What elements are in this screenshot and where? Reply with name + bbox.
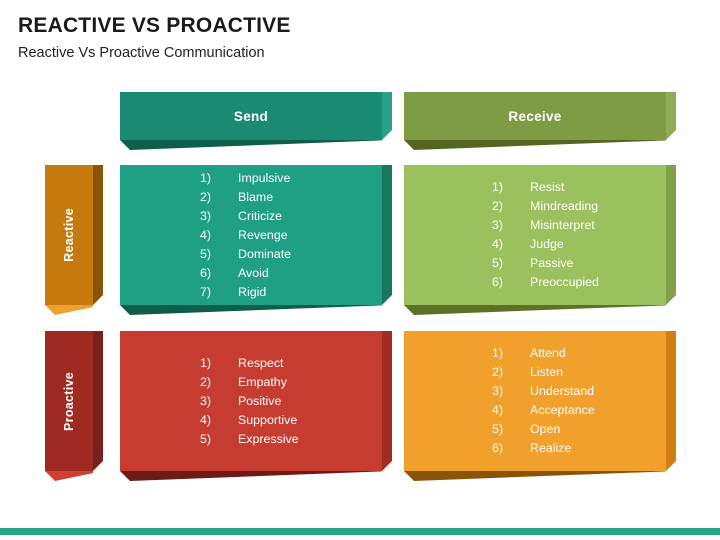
panel-reactive-send-front-face: ImpulsiveBlameCriticizeRevengeDominateAv… <box>120 165 382 305</box>
header-send-side-face <box>382 92 392 140</box>
list-item: Attend <box>492 344 595 363</box>
row-label-proactive-front-face: Proactive <box>45 331 93 471</box>
column-header-send-label: Send <box>234 109 268 124</box>
panel-reactive-send-bottom-face <box>120 305 382 315</box>
list-item: Empathy <box>200 373 299 392</box>
list-item: Revenge <box>200 226 291 245</box>
list-item: Positive <box>200 392 299 411</box>
list-item: Dominate <box>200 245 291 264</box>
row-label-reactive[interactable]: Reactive <box>45 165 93 305</box>
list-item: Acceptance <box>492 401 595 420</box>
list-item: Open <box>492 420 595 439</box>
header-send-front-face: Send <box>120 92 382 140</box>
bottom-accent-bar <box>0 528 720 535</box>
panel-reactive-receive-side-face <box>666 165 676 305</box>
panel-proactive-send-side-face <box>382 331 392 471</box>
panel-reactive-send[interactable]: ImpulsiveBlameCriticizeRevengeDominateAv… <box>120 165 382 305</box>
panel-proactive-send-front-face: RespectEmpathyPositiveSupportiveExpressi… <box>120 331 382 471</box>
list-item: Rigid <box>200 283 291 302</box>
row-label-reactive-bottom-face <box>45 305 93 315</box>
column-header-receive[interactable]: Receive <box>404 92 666 140</box>
header-receive-side-face <box>666 92 676 140</box>
panel-proactive-receive-list: AttendListenUnderstandAcceptanceOpenReal… <box>404 344 595 458</box>
panel-reactive-receive-bottom-face <box>404 305 666 315</box>
panel-proactive-send-bottom-face <box>120 471 382 481</box>
list-item: Supportive <box>200 411 299 430</box>
list-item: Passive <box>492 254 599 273</box>
list-item: Respect <box>200 354 299 373</box>
list-item: Mindreading <box>492 197 599 216</box>
list-item: Preoccupied <box>492 273 599 292</box>
header-send-bottom-face <box>120 140 382 150</box>
list-item: Misinterpret <box>492 216 599 235</box>
column-header-send[interactable]: Send <box>120 92 382 140</box>
row-label-proactive-bottom-face <box>45 471 93 481</box>
panel-proactive-send[interactable]: RespectEmpathyPositiveSupportiveExpressi… <box>120 331 382 471</box>
header-receive-bottom-face <box>404 140 666 150</box>
row-label-reactive-front-face: Reactive <box>45 165 93 305</box>
list-item: Realize <box>492 439 595 458</box>
header-receive-front-face: Receive <box>404 92 666 140</box>
panel-proactive-send-list: RespectEmpathyPositiveSupportiveExpressi… <box>120 354 299 449</box>
list-item: Avoid <box>200 264 291 283</box>
list-item: Judge <box>492 235 599 254</box>
row-label-proactive-side-face <box>93 331 103 471</box>
list-item: Understand <box>492 382 595 401</box>
panel-reactive-send-list: ImpulsiveBlameCriticizeRevengeDominateAv… <box>120 169 291 302</box>
panel-reactive-send-side-face <box>382 165 392 305</box>
panel-reactive-receive[interactable]: ResistMindreadingMisinterpretJudgePassiv… <box>404 165 666 305</box>
list-item: Criticize <box>200 207 291 226</box>
panel-proactive-receive[interactable]: AttendListenUnderstandAcceptanceOpenReal… <box>404 331 666 471</box>
reactive-proactive-matrix: Send Receive Reactive Proactive Impulsiv… <box>0 0 720 540</box>
panel-proactive-receive-front-face: AttendListenUnderstandAcceptanceOpenReal… <box>404 331 666 471</box>
column-header-receive-label: Receive <box>508 109 561 124</box>
list-item: Blame <box>200 188 291 207</box>
list-item: Expressive <box>200 430 299 449</box>
list-item: Listen <box>492 363 595 382</box>
panel-reactive-receive-front-face: ResistMindreadingMisinterpretJudgePassiv… <box>404 165 666 305</box>
row-label-proactive-text: Proactive <box>62 372 76 431</box>
panel-proactive-receive-bottom-face <box>404 471 666 481</box>
row-label-reactive-side-face <box>93 165 103 305</box>
panel-reactive-receive-list: ResistMindreadingMisinterpretJudgePassiv… <box>404 178 599 292</box>
row-label-reactive-text: Reactive <box>62 208 76 262</box>
list-item: Impulsive <box>200 169 291 188</box>
list-item: Resist <box>492 178 599 197</box>
row-label-proactive[interactable]: Proactive <box>45 331 93 471</box>
panel-proactive-receive-side-face <box>666 331 676 471</box>
